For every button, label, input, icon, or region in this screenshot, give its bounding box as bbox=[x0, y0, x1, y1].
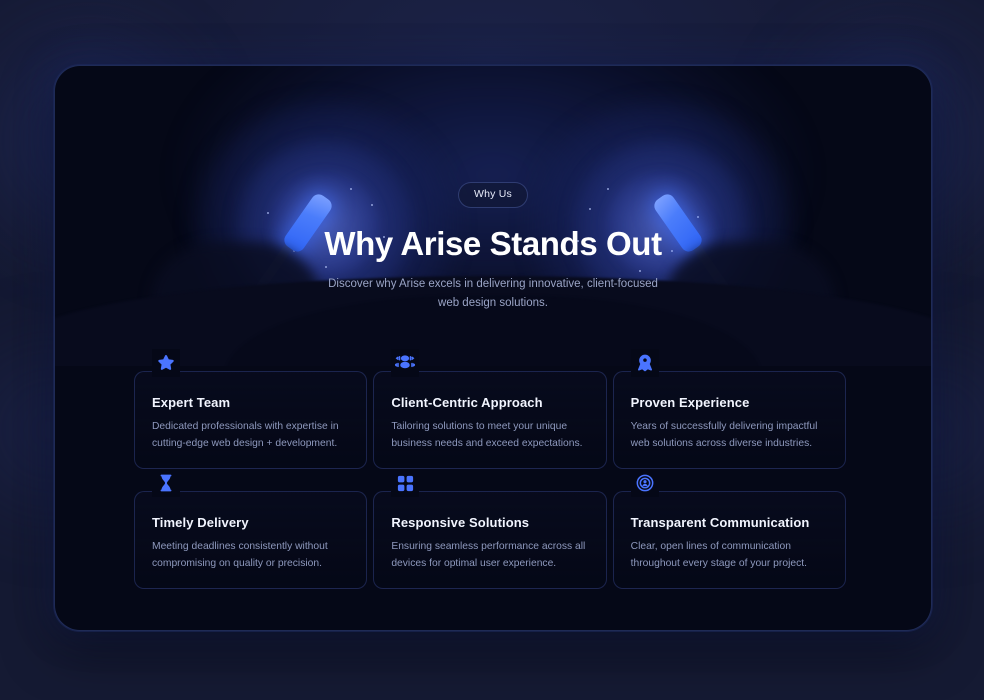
card-title: Proven Experience bbox=[631, 395, 832, 410]
card-title: Responsive Solutions bbox=[391, 515, 592, 530]
page-subtitle: Discover why Arise excels in delivering … bbox=[323, 275, 663, 312]
broadcast-icon bbox=[631, 469, 659, 497]
users-group-icon bbox=[391, 349, 419, 377]
card-content: Transparent Communication Clear, open li… bbox=[631, 515, 832, 572]
card-content: Client-Centric Approach Tailoring soluti… bbox=[391, 395, 592, 452]
card-title: Client-Centric Approach bbox=[391, 395, 592, 410]
why-us-section-panel: Why Us Why Arise Stands Out Discover why… bbox=[54, 65, 932, 631]
hero-text-block: Why Us Why Arise Stands Out Discover why… bbox=[55, 182, 931, 313]
feature-grid: Expert Team Dedicated professionals with… bbox=[134, 349, 852, 589]
card-content: Expert Team Dedicated professionals with… bbox=[152, 395, 353, 452]
card-description: Clear, open lines of communication throu… bbox=[631, 539, 832, 572]
card-content: Proven Experience Years of successfully … bbox=[631, 395, 832, 452]
feature-card-expert-team[interactable]: Expert Team Dedicated professionals with… bbox=[134, 349, 373, 469]
card-content: Responsive Solutions Ensuring seamless p… bbox=[391, 515, 592, 572]
feature-card-responsive-solutions[interactable]: Responsive Solutions Ensuring seamless p… bbox=[373, 469, 612, 589]
card-description: Meeting deadlines consistently without c… bbox=[152, 539, 353, 572]
award-medal-icon bbox=[631, 349, 659, 377]
star-icon bbox=[152, 349, 180, 377]
feature-card-client-centric-approach[interactable]: Client-Centric Approach Tailoring soluti… bbox=[373, 349, 612, 469]
feature-card-proven-experience[interactable]: Proven Experience Years of successfully … bbox=[613, 349, 852, 469]
grid-squares-icon bbox=[391, 469, 419, 497]
page-stage: Why Us Why Arise Stands Out Discover why… bbox=[0, 0, 984, 700]
card-content: Timely Delivery Meeting deadlines consis… bbox=[152, 515, 353, 572]
card-title: Transparent Communication bbox=[631, 515, 832, 530]
card-title: Timely Delivery bbox=[152, 515, 353, 530]
card-description: Dedicated professionals with expertise i… bbox=[152, 419, 353, 452]
feature-card-timely-delivery[interactable]: Timely Delivery Meeting deadlines consis… bbox=[134, 469, 373, 589]
card-description: Ensuring seamless performance across all… bbox=[391, 539, 592, 572]
card-description: Tailoring solutions to meet your unique … bbox=[391, 419, 592, 452]
card-title: Expert Team bbox=[152, 395, 353, 410]
page-title: Why Arise Stands Out bbox=[55, 226, 931, 263]
hourglass-icon bbox=[152, 469, 180, 497]
why-us-badge: Why Us bbox=[458, 182, 528, 208]
card-description: Years of successfully delivering impactf… bbox=[631, 419, 832, 452]
feature-card-transparent-communication[interactable]: Transparent Communication Clear, open li… bbox=[613, 469, 852, 589]
